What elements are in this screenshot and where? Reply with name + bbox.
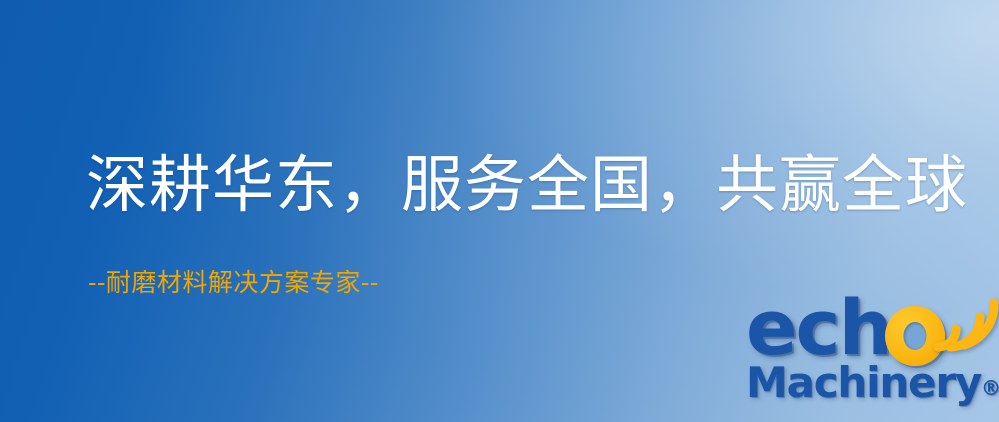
- banner-headline: 深耕华东，服务全国，共赢全球: [86, 152, 968, 219]
- signal-waves-icon: [934, 289, 999, 351]
- logo-tagline-machinery: Machinery®: [746, 362, 999, 404]
- banner-subheadline: --耐磨材料解决方案专家--: [88, 268, 379, 298]
- echo-machinery-logo[interactable]: ech Machinery®: [742, 296, 994, 418]
- registered-trademark-icon: ®: [981, 376, 999, 400]
- logo-letter-o-counter: [904, 322, 927, 350]
- hero-banner: 深耕华东，服务全国，共赢全球 --耐磨材料解决方案专家-- ech Machin…: [0, 0, 999, 422]
- logo-tagline-text: Machinery: [746, 358, 981, 407]
- logo-wordmark-echo: ech: [746, 290, 891, 366]
